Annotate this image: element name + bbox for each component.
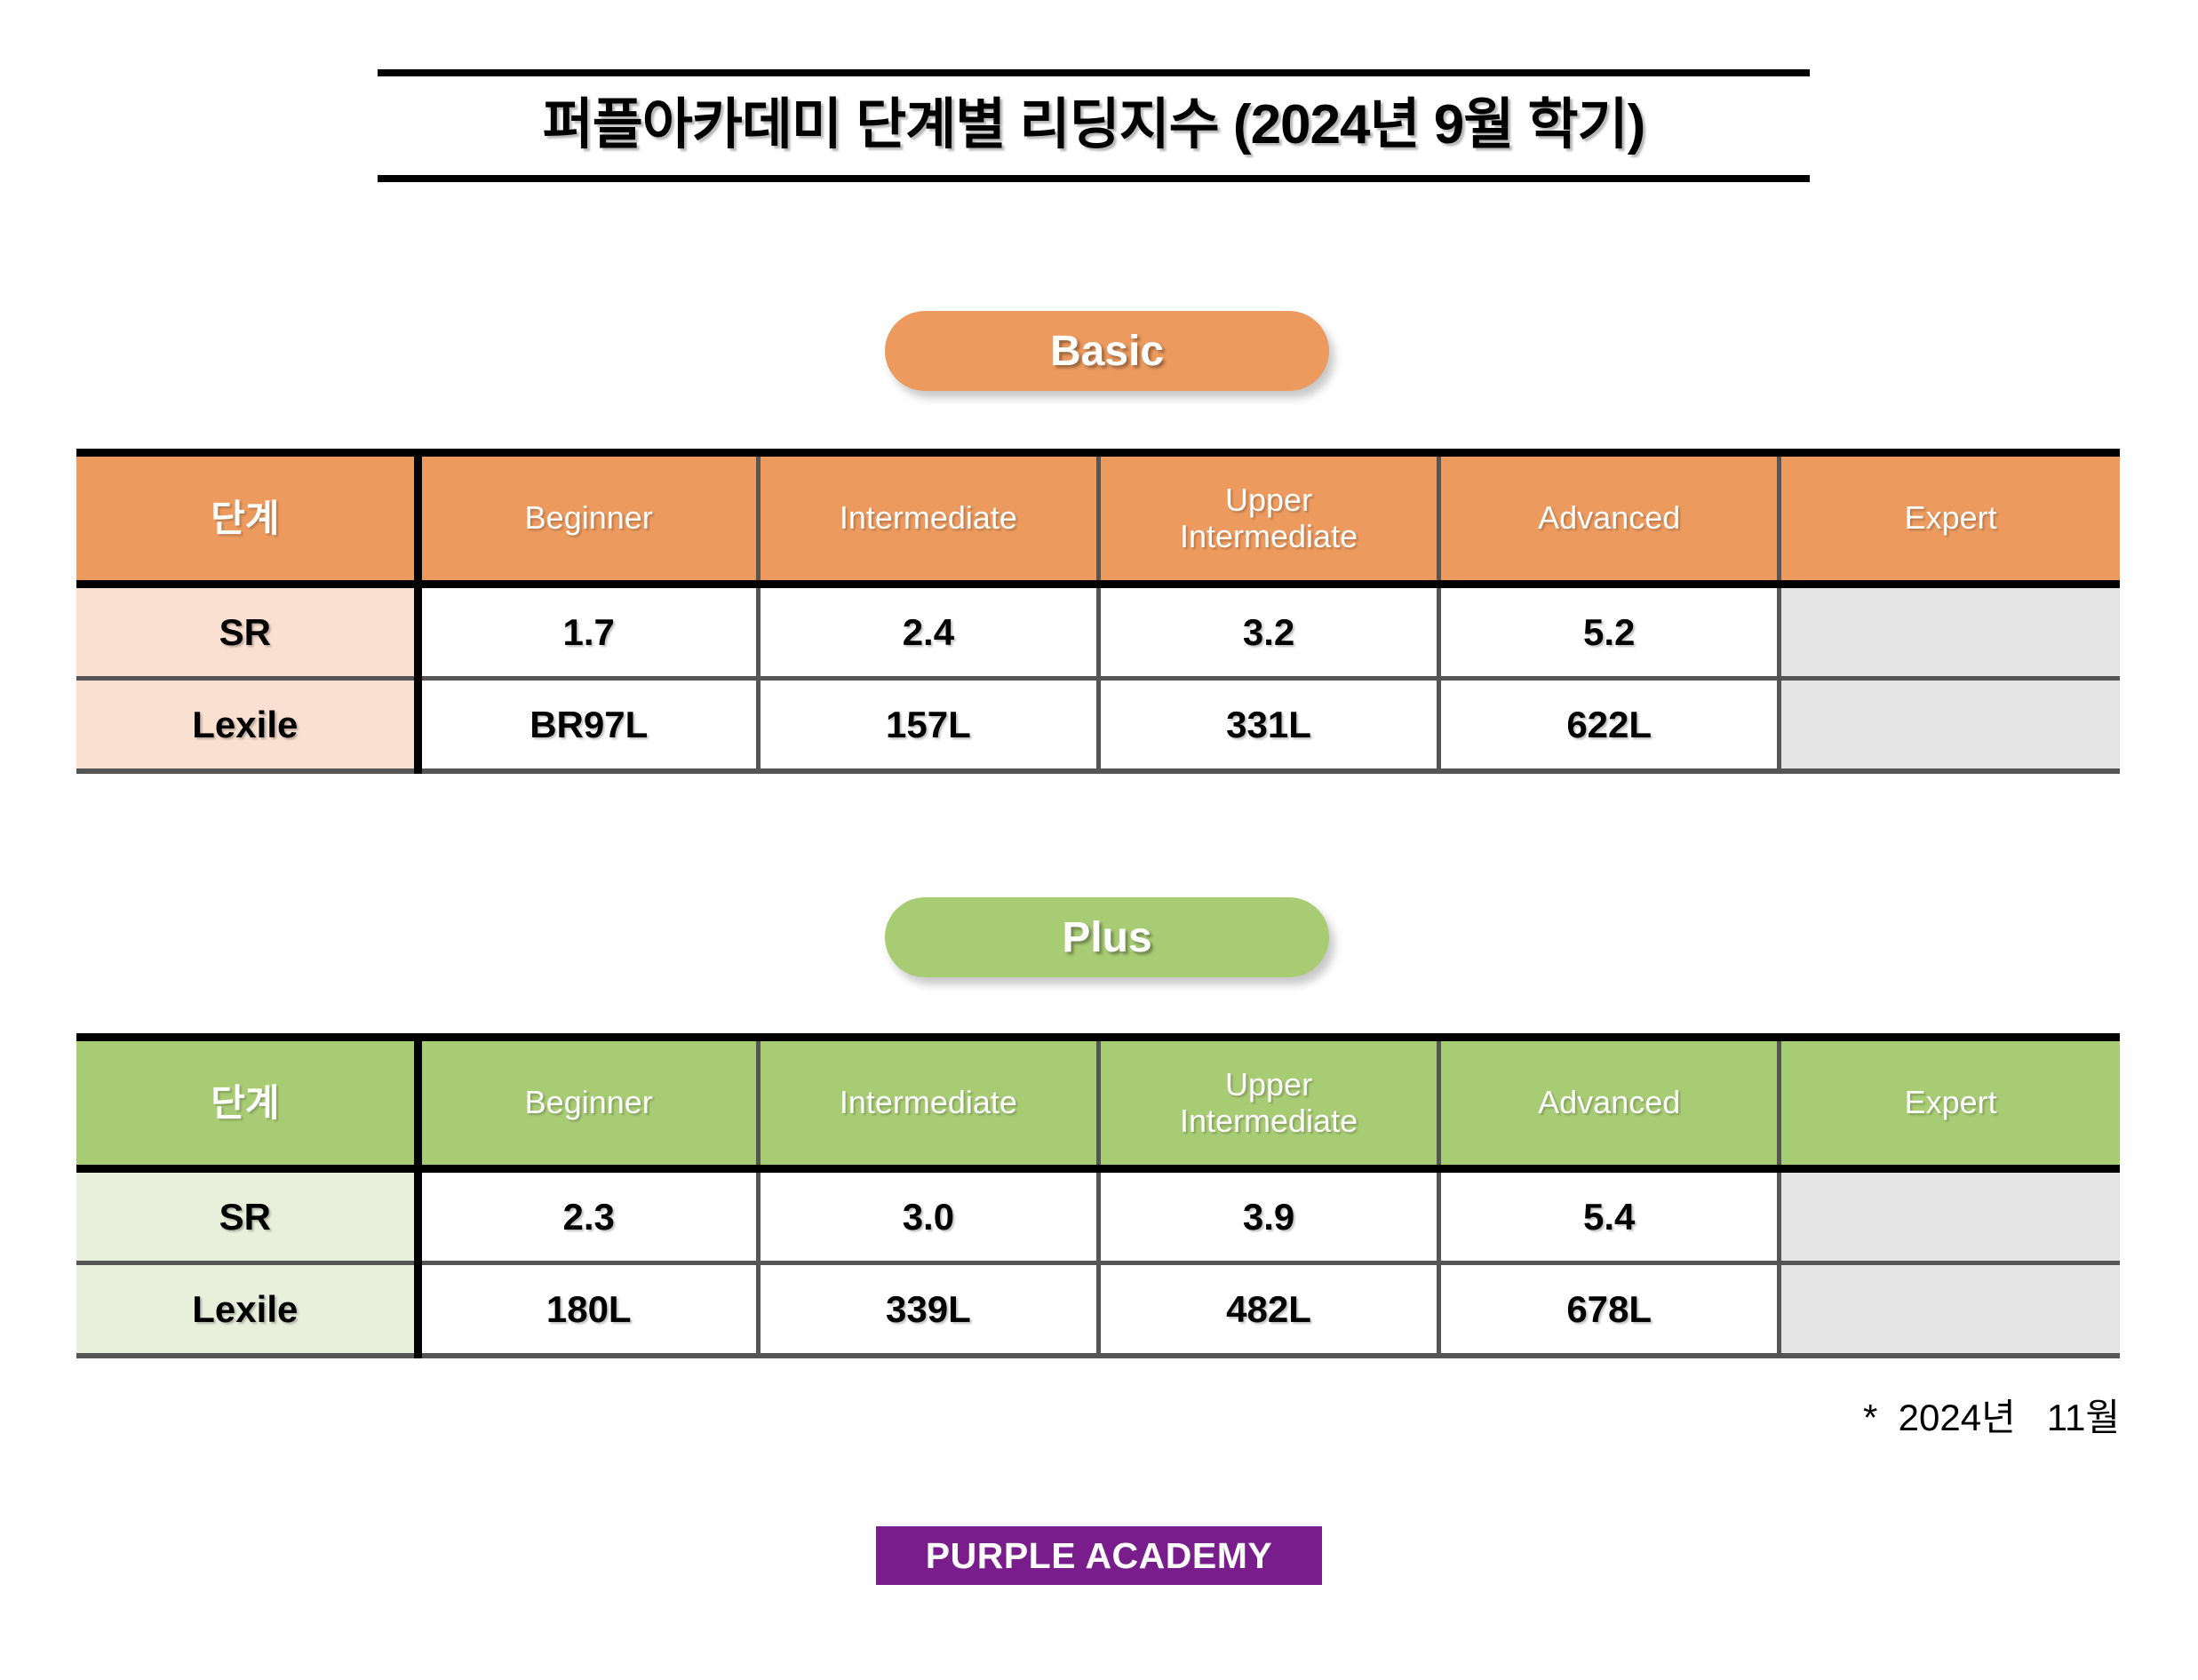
column-header-beginner: Beginner: [418, 453, 758, 585]
table-header-row: 단계 Beginner Intermediate UpperIntermedia…: [76, 453, 2120, 585]
cell-sr-expert: [1780, 585, 2120, 679]
cell-sr-intermediate: 2.4: [758, 585, 1098, 679]
cell-sr-advanced: 5.4: [1439, 1169, 1780, 1263]
table-row: Lexile BR97L 157L 331L 622L: [76, 679, 2120, 772]
column-header-intermediate: Intermediate: [758, 453, 1098, 585]
cell-lexile-expert: [1780, 679, 2120, 772]
column-header-upper-intermediate: UpperIntermediate: [1098, 1038, 1438, 1169]
cell-lexile-intermediate: 339L: [758, 1263, 1098, 1357]
section-badge-basic: Basic: [885, 311, 1329, 391]
page-title: 퍼플아카데미 단계별 리딩지수 (2024년 9월 학기): [378, 76, 1810, 175]
cell-lexile-beginner: BR97L: [418, 679, 758, 772]
cell-lexile-advanced: 622L: [1439, 679, 1780, 772]
title-rule-bottom: [378, 175, 1810, 182]
column-header-beginner: Beginner: [418, 1038, 758, 1169]
column-header-stage: 단계: [76, 453, 418, 585]
page-title-block: 퍼플아카데미 단계별 리딩지수 (2024년 9월 학기): [378, 69, 1810, 182]
cell-lexile-upper-intermediate: 331L: [1098, 679, 1438, 772]
cell-sr-upper-intermediate: 3.9: [1098, 1169, 1438, 1263]
cell-sr-intermediate: 3.0: [758, 1169, 1098, 1263]
cell-lexile-intermediate: 157L: [758, 679, 1098, 772]
cell-sr-advanced: 5.2: [1439, 585, 1780, 679]
title-rule-top: [378, 69, 1810, 76]
row-label-lexile: Lexile: [76, 679, 418, 772]
column-header-expert: Expert: [1780, 453, 2120, 585]
purple-academy-logo: PURPLE ACADEMY: [876, 1526, 1322, 1585]
table-row: SR 1.7 2.4 3.2 5.2: [76, 585, 2120, 679]
footnote: * 2024년 11월: [1863, 1388, 2120, 1442]
reading-index-table-plus: 단계 Beginner Intermediate UpperIntermedia…: [76, 1033, 2120, 1358]
cell-sr-expert: [1780, 1169, 2120, 1263]
column-header-advanced: Advanced: [1439, 453, 1780, 585]
row-label-lexile: Lexile: [76, 1263, 418, 1357]
cell-sr-beginner: 2.3: [418, 1169, 758, 1263]
column-header-intermediate: Intermediate: [758, 1038, 1098, 1169]
table-header-row: 단계 Beginner Intermediate UpperIntermedia…: [76, 1038, 2120, 1169]
column-header-upper-intermediate: UpperIntermediate: [1098, 453, 1438, 585]
cell-sr-beginner: 1.7: [418, 585, 758, 679]
table-row: SR 2.3 3.0 3.9 5.4: [76, 1169, 2120, 1263]
section-badge-plus: Plus: [885, 897, 1329, 977]
column-header-expert: Expert: [1780, 1038, 2120, 1169]
row-label-sr: SR: [76, 1169, 418, 1263]
cell-lexile-expert: [1780, 1263, 2120, 1357]
table-row: Lexile 180L 339L 482L 678L: [76, 1263, 2120, 1357]
cell-sr-upper-intermediate: 3.2: [1098, 585, 1438, 679]
column-header-stage: 단계: [76, 1038, 418, 1169]
reading-index-table-basic: 단계 Beginner Intermediate UpperIntermedia…: [76, 449, 2120, 774]
column-header-advanced: Advanced: [1439, 1038, 1780, 1169]
cell-lexile-beginner: 180L: [418, 1263, 758, 1357]
row-label-sr: SR: [76, 585, 418, 679]
cell-lexile-upper-intermediate: 482L: [1098, 1263, 1438, 1357]
cell-lexile-advanced: 678L: [1439, 1263, 1780, 1357]
